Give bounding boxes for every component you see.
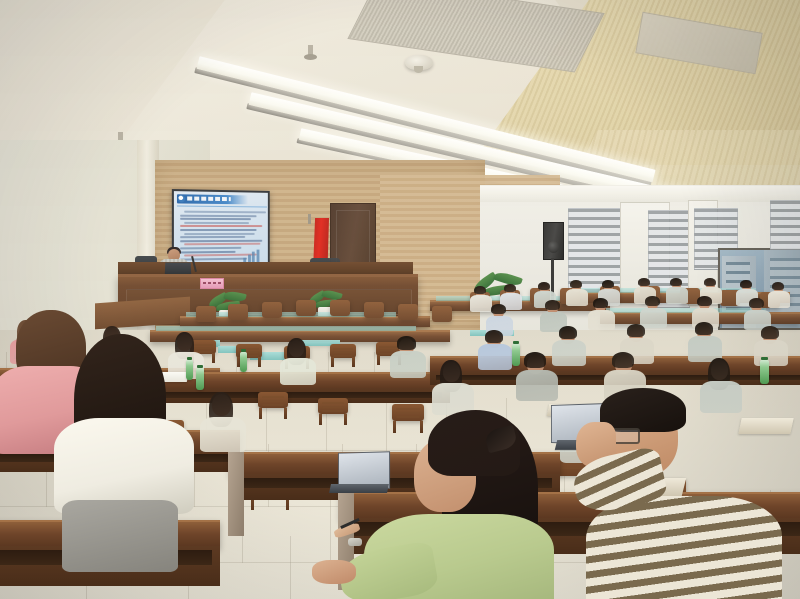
attendee-torso xyxy=(768,291,790,308)
roller-blinds[interactable] xyxy=(770,200,800,250)
wooden-chair[interactable] xyxy=(318,398,348,424)
wooden-chair[interactable] xyxy=(330,344,356,366)
slide-text-line xyxy=(180,214,257,217)
chair-slat xyxy=(396,412,420,414)
attendee-torso xyxy=(516,370,558,402)
slide-title-text xyxy=(187,196,231,201)
attendee-hair xyxy=(538,282,550,290)
chair-slat xyxy=(322,402,345,404)
slide-text-line xyxy=(180,229,257,231)
attendee-hair xyxy=(485,330,503,343)
chair-leg xyxy=(284,408,287,420)
chair-slat xyxy=(333,351,353,353)
attendee-hair xyxy=(504,284,516,292)
flag-pole xyxy=(308,214,311,224)
wooden-chair[interactable] xyxy=(330,300,350,316)
attendee-hair xyxy=(593,298,607,308)
wooden-chair[interactable] xyxy=(398,304,418,320)
projection-screen xyxy=(172,189,270,269)
attendee-laptop[interactable] xyxy=(329,484,389,493)
chair-slat xyxy=(333,355,353,357)
attendee-torso xyxy=(700,381,742,413)
chair-leg xyxy=(258,357,261,367)
attendee-torso xyxy=(478,344,512,370)
wooden-chair[interactable] xyxy=(258,392,288,418)
water-bottle[interactable] xyxy=(512,344,520,366)
desk-writing-surface xyxy=(606,308,766,313)
attendee-hair xyxy=(638,278,650,286)
slide-text-line xyxy=(180,225,262,227)
slide-text-line xyxy=(180,240,262,242)
chair-slat xyxy=(396,408,420,410)
attendee-hair xyxy=(545,300,559,310)
attendee-hair xyxy=(697,296,711,306)
chair-slat xyxy=(322,410,345,412)
chair-leg xyxy=(393,421,396,434)
chair-leg xyxy=(259,408,262,420)
bottle-cap xyxy=(197,365,203,368)
desk-writing-surface xyxy=(156,326,416,331)
water-bottle[interactable] xyxy=(240,352,247,372)
chair-leg xyxy=(377,355,380,365)
chair-leg xyxy=(212,353,215,363)
attendee-torso xyxy=(588,310,615,330)
attendee-hair xyxy=(772,282,784,290)
attendee-hair xyxy=(559,326,577,339)
chair-slat xyxy=(379,346,399,348)
attendee-torso xyxy=(200,417,246,452)
wooden-chair[interactable] xyxy=(364,302,384,318)
chair-leg xyxy=(352,357,355,367)
chair-slat xyxy=(333,348,353,350)
attendee-torso xyxy=(470,295,492,312)
projected-slide xyxy=(174,191,268,267)
attendee-hair xyxy=(600,388,686,432)
water-bottle[interactable] xyxy=(186,360,193,380)
slide-text-line xyxy=(184,222,249,224)
slide-body-text xyxy=(174,191,268,193)
attendee-torso xyxy=(640,308,667,328)
attendee-hair xyxy=(761,326,779,339)
attendee-hand xyxy=(312,560,356,584)
attendee-hair xyxy=(740,280,752,288)
wall-speaker xyxy=(543,222,564,260)
attendee-hair xyxy=(695,322,713,335)
slide-text-line xyxy=(180,257,247,260)
fire-sprinkler-icon xyxy=(308,45,313,59)
attendee-skirt xyxy=(62,500,178,572)
slide-text-line xyxy=(184,233,255,235)
chair-leg xyxy=(344,414,347,426)
chair-slat xyxy=(322,406,345,408)
wooden-chair[interactable] xyxy=(392,404,424,432)
wooden-chair[interactable] xyxy=(228,304,248,320)
notebook[interactable] xyxy=(738,418,793,434)
slide-bar-chart xyxy=(243,250,264,263)
conference-room-photo xyxy=(0,0,800,599)
attendee-torso xyxy=(552,340,586,366)
wooden-chair[interactable] xyxy=(262,302,282,318)
chair-slat xyxy=(193,344,213,346)
chair-leg xyxy=(319,414,322,426)
attendee-hair xyxy=(645,296,659,306)
attendee-hair xyxy=(397,336,416,350)
slide-text-line xyxy=(180,247,241,250)
water-bottle[interactable] xyxy=(760,360,769,384)
smoke-detector-icon xyxy=(405,55,433,70)
attendee-hair xyxy=(612,352,634,368)
attendee-torso xyxy=(566,289,588,306)
chair-leg xyxy=(331,357,334,367)
chair-slat xyxy=(262,396,285,398)
attendee-hair xyxy=(524,352,546,368)
attendee-hair xyxy=(491,304,505,314)
bottle-cap xyxy=(513,341,519,344)
slide-text-line xyxy=(180,218,251,220)
wooden-chair[interactable] xyxy=(432,306,452,322)
attendee-hair xyxy=(704,278,716,286)
attendee-torso xyxy=(280,358,316,385)
wooden-chair[interactable] xyxy=(296,300,316,316)
attendee-hair xyxy=(627,324,645,337)
bottle-cap xyxy=(761,357,768,360)
slide-text-line xyxy=(184,211,266,214)
attendee-hair xyxy=(670,278,682,286)
slide-text-line xyxy=(180,236,245,238)
right-wall-top-band xyxy=(480,186,800,202)
water-bottle[interactable] xyxy=(196,368,204,390)
slide-divider xyxy=(177,205,267,207)
wooden-chair[interactable] xyxy=(196,306,216,322)
attendee-torso xyxy=(586,496,782,599)
slide-text-line xyxy=(180,250,236,253)
slide-chart-bar xyxy=(252,252,255,263)
slide-text-line xyxy=(184,243,260,246)
bottle-cap xyxy=(241,349,246,352)
attendee-hair xyxy=(474,286,486,294)
attendee-torso xyxy=(666,287,688,304)
chair-slat xyxy=(262,400,285,402)
chair-slat xyxy=(262,404,285,406)
presenter-nameplate xyxy=(200,278,224,289)
chair-leg xyxy=(420,421,423,434)
attendee-hair xyxy=(749,298,763,308)
slide-chart-bar xyxy=(256,250,259,263)
desk-under-shelf xyxy=(156,392,442,398)
bottle-cap xyxy=(187,357,192,360)
chair-slat xyxy=(193,347,213,349)
attendee-torso xyxy=(390,351,426,378)
wristwatch xyxy=(348,538,362,546)
attendee-hair xyxy=(570,280,582,288)
attendee-hair xyxy=(602,280,614,288)
desk-side-panel xyxy=(228,452,244,536)
